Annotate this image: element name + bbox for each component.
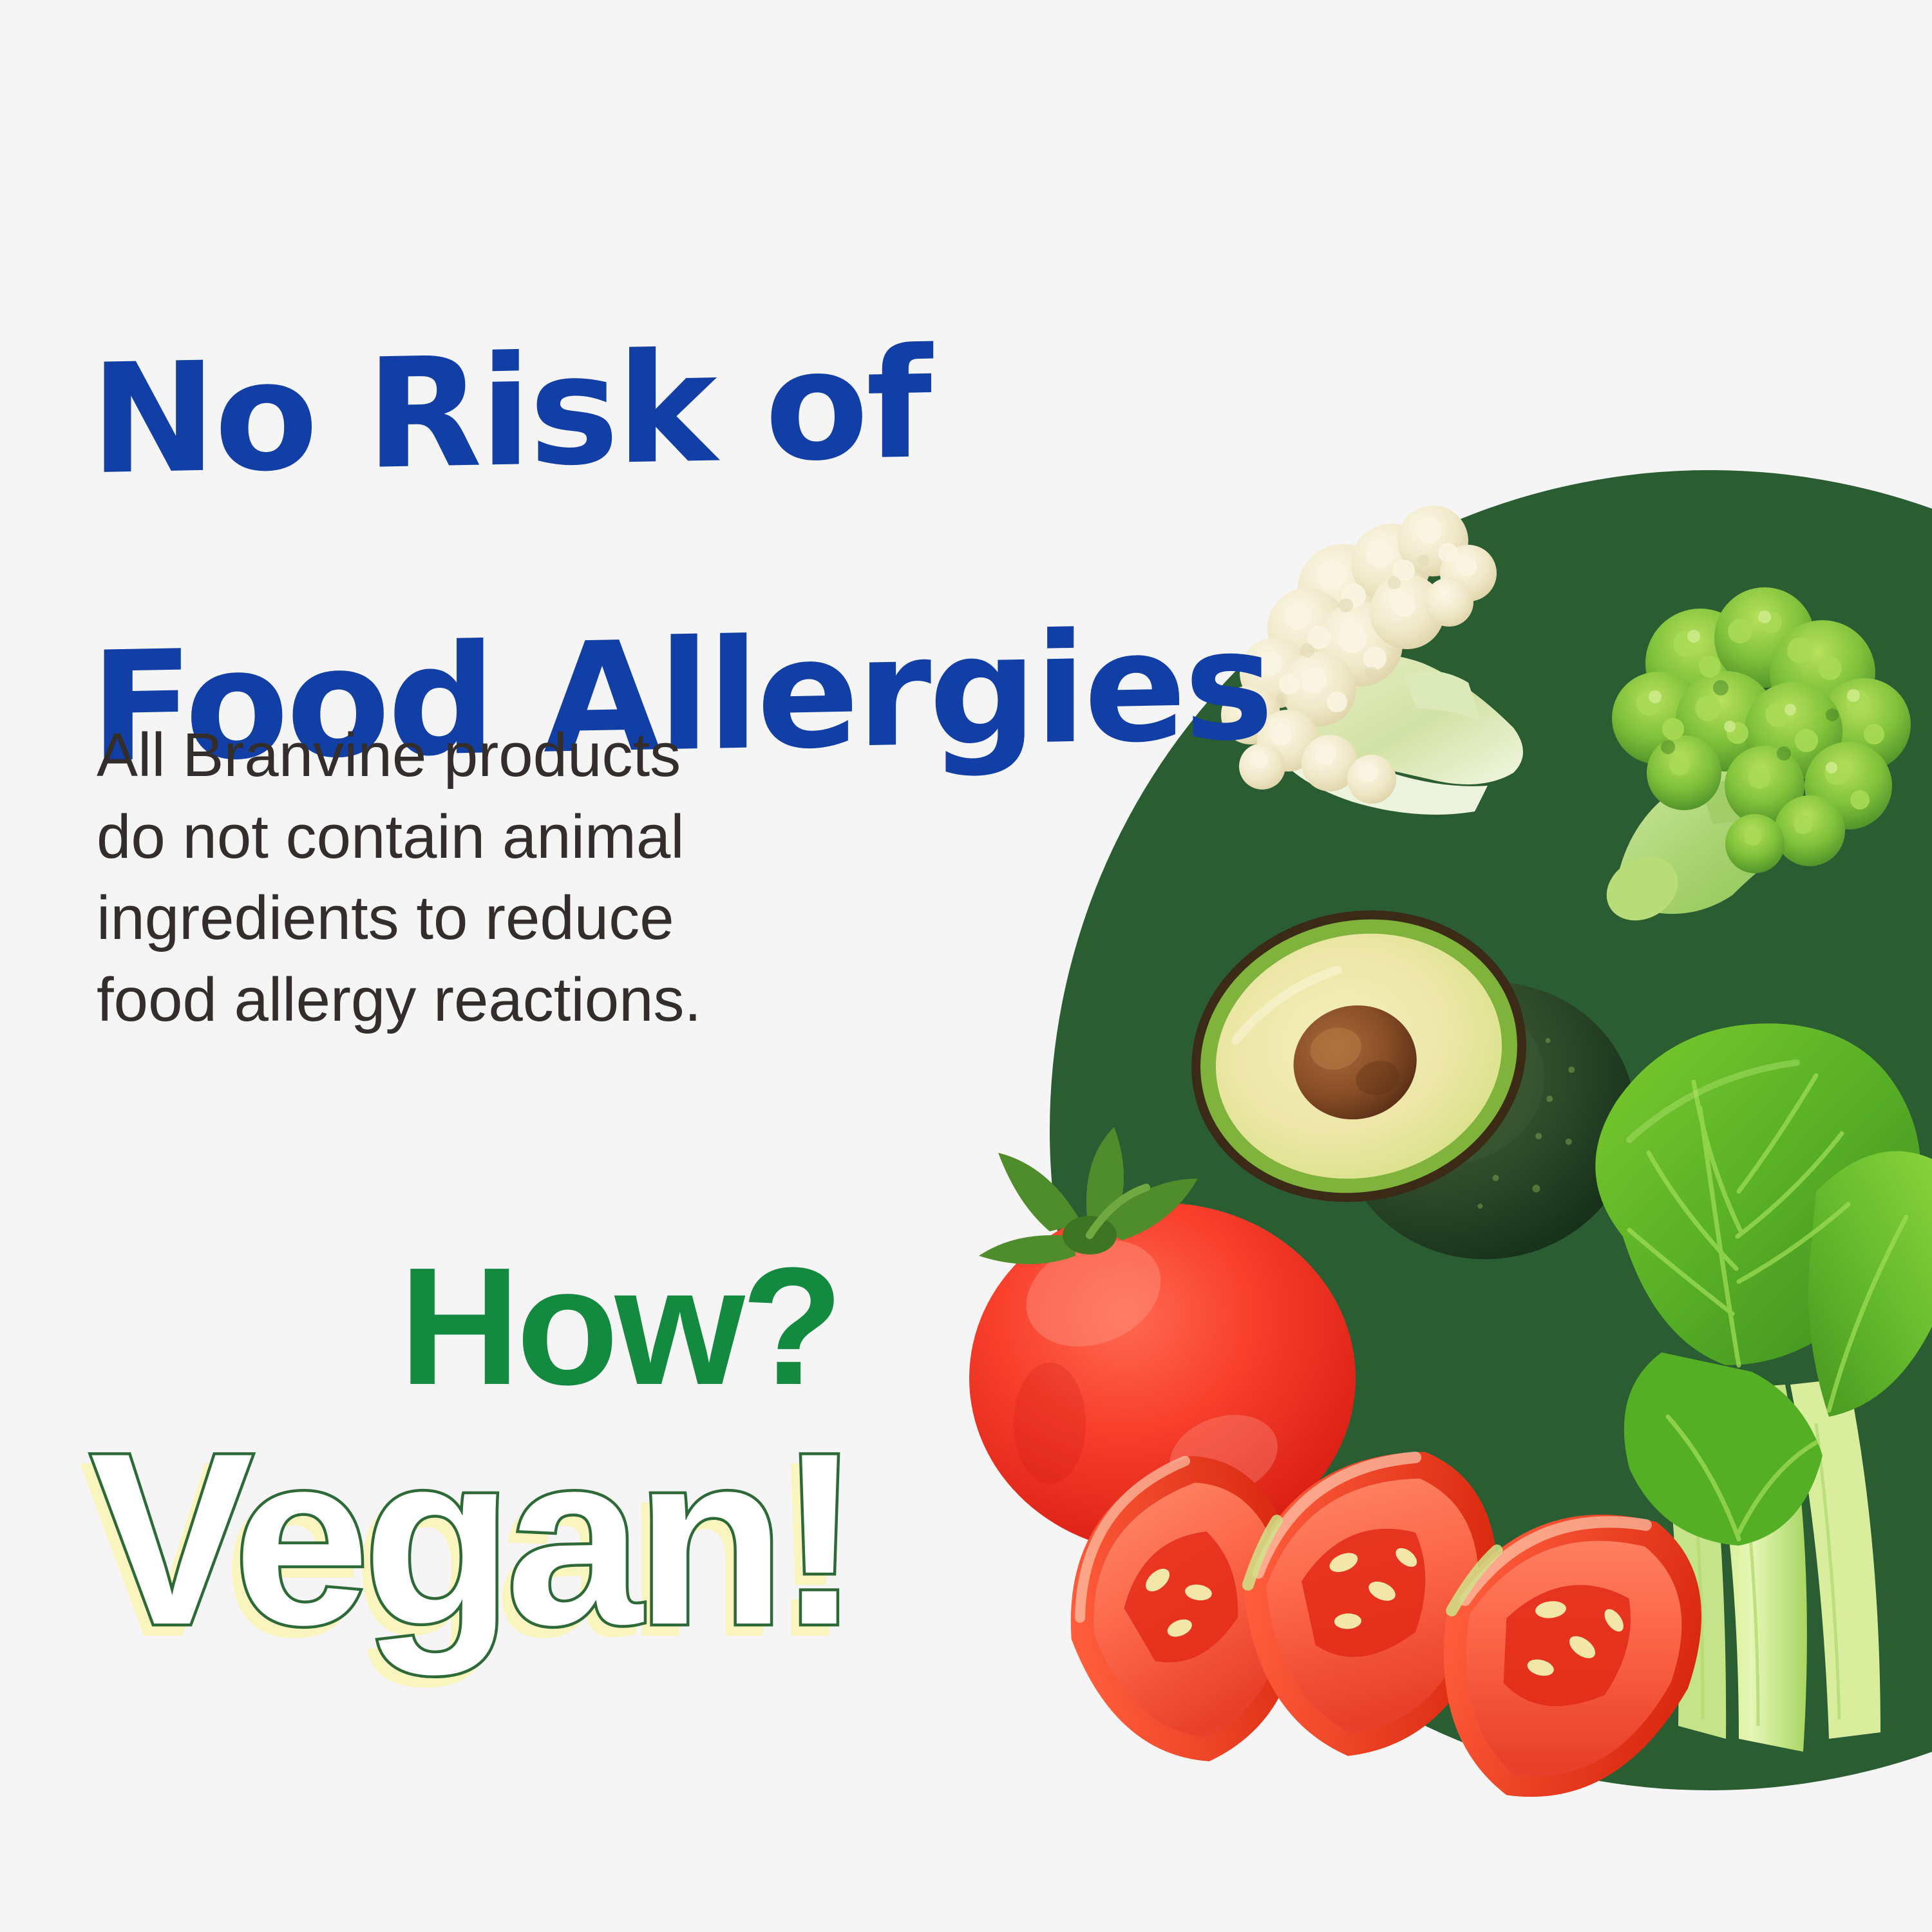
vegan-callout: Vegan! Vegan!: [90, 1417, 1185, 1687]
vegan-answer-label: Vegan!: [90, 1417, 854, 1662]
poster-canvas: No Risk of Food Allergies All Branvine p…: [0, 0, 1932, 1932]
body-paragraph: All Branvine products do not contain ani…: [97, 715, 947, 1041]
how-question-label: How?: [399, 1243, 840, 1410]
headline-line-1: No Risk of: [90, 325, 1314, 493]
